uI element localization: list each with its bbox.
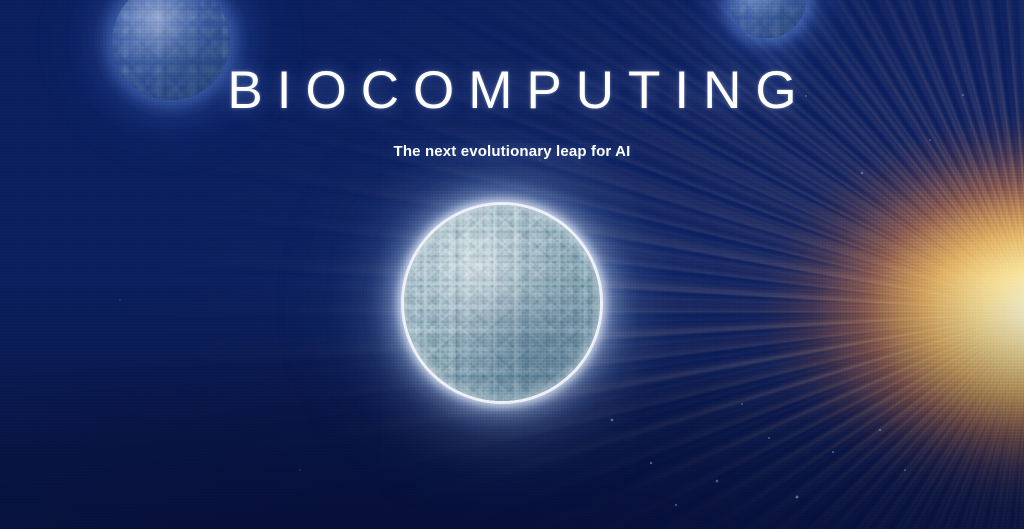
hero-subtitle: The next evolutionary leap for AI <box>0 143 1024 161</box>
page-title: BIOCOMPUTING <box>0 64 1024 117</box>
hero-banner: BIOCOMPUTING The next evolutionary leap … <box>0 0 1024 529</box>
